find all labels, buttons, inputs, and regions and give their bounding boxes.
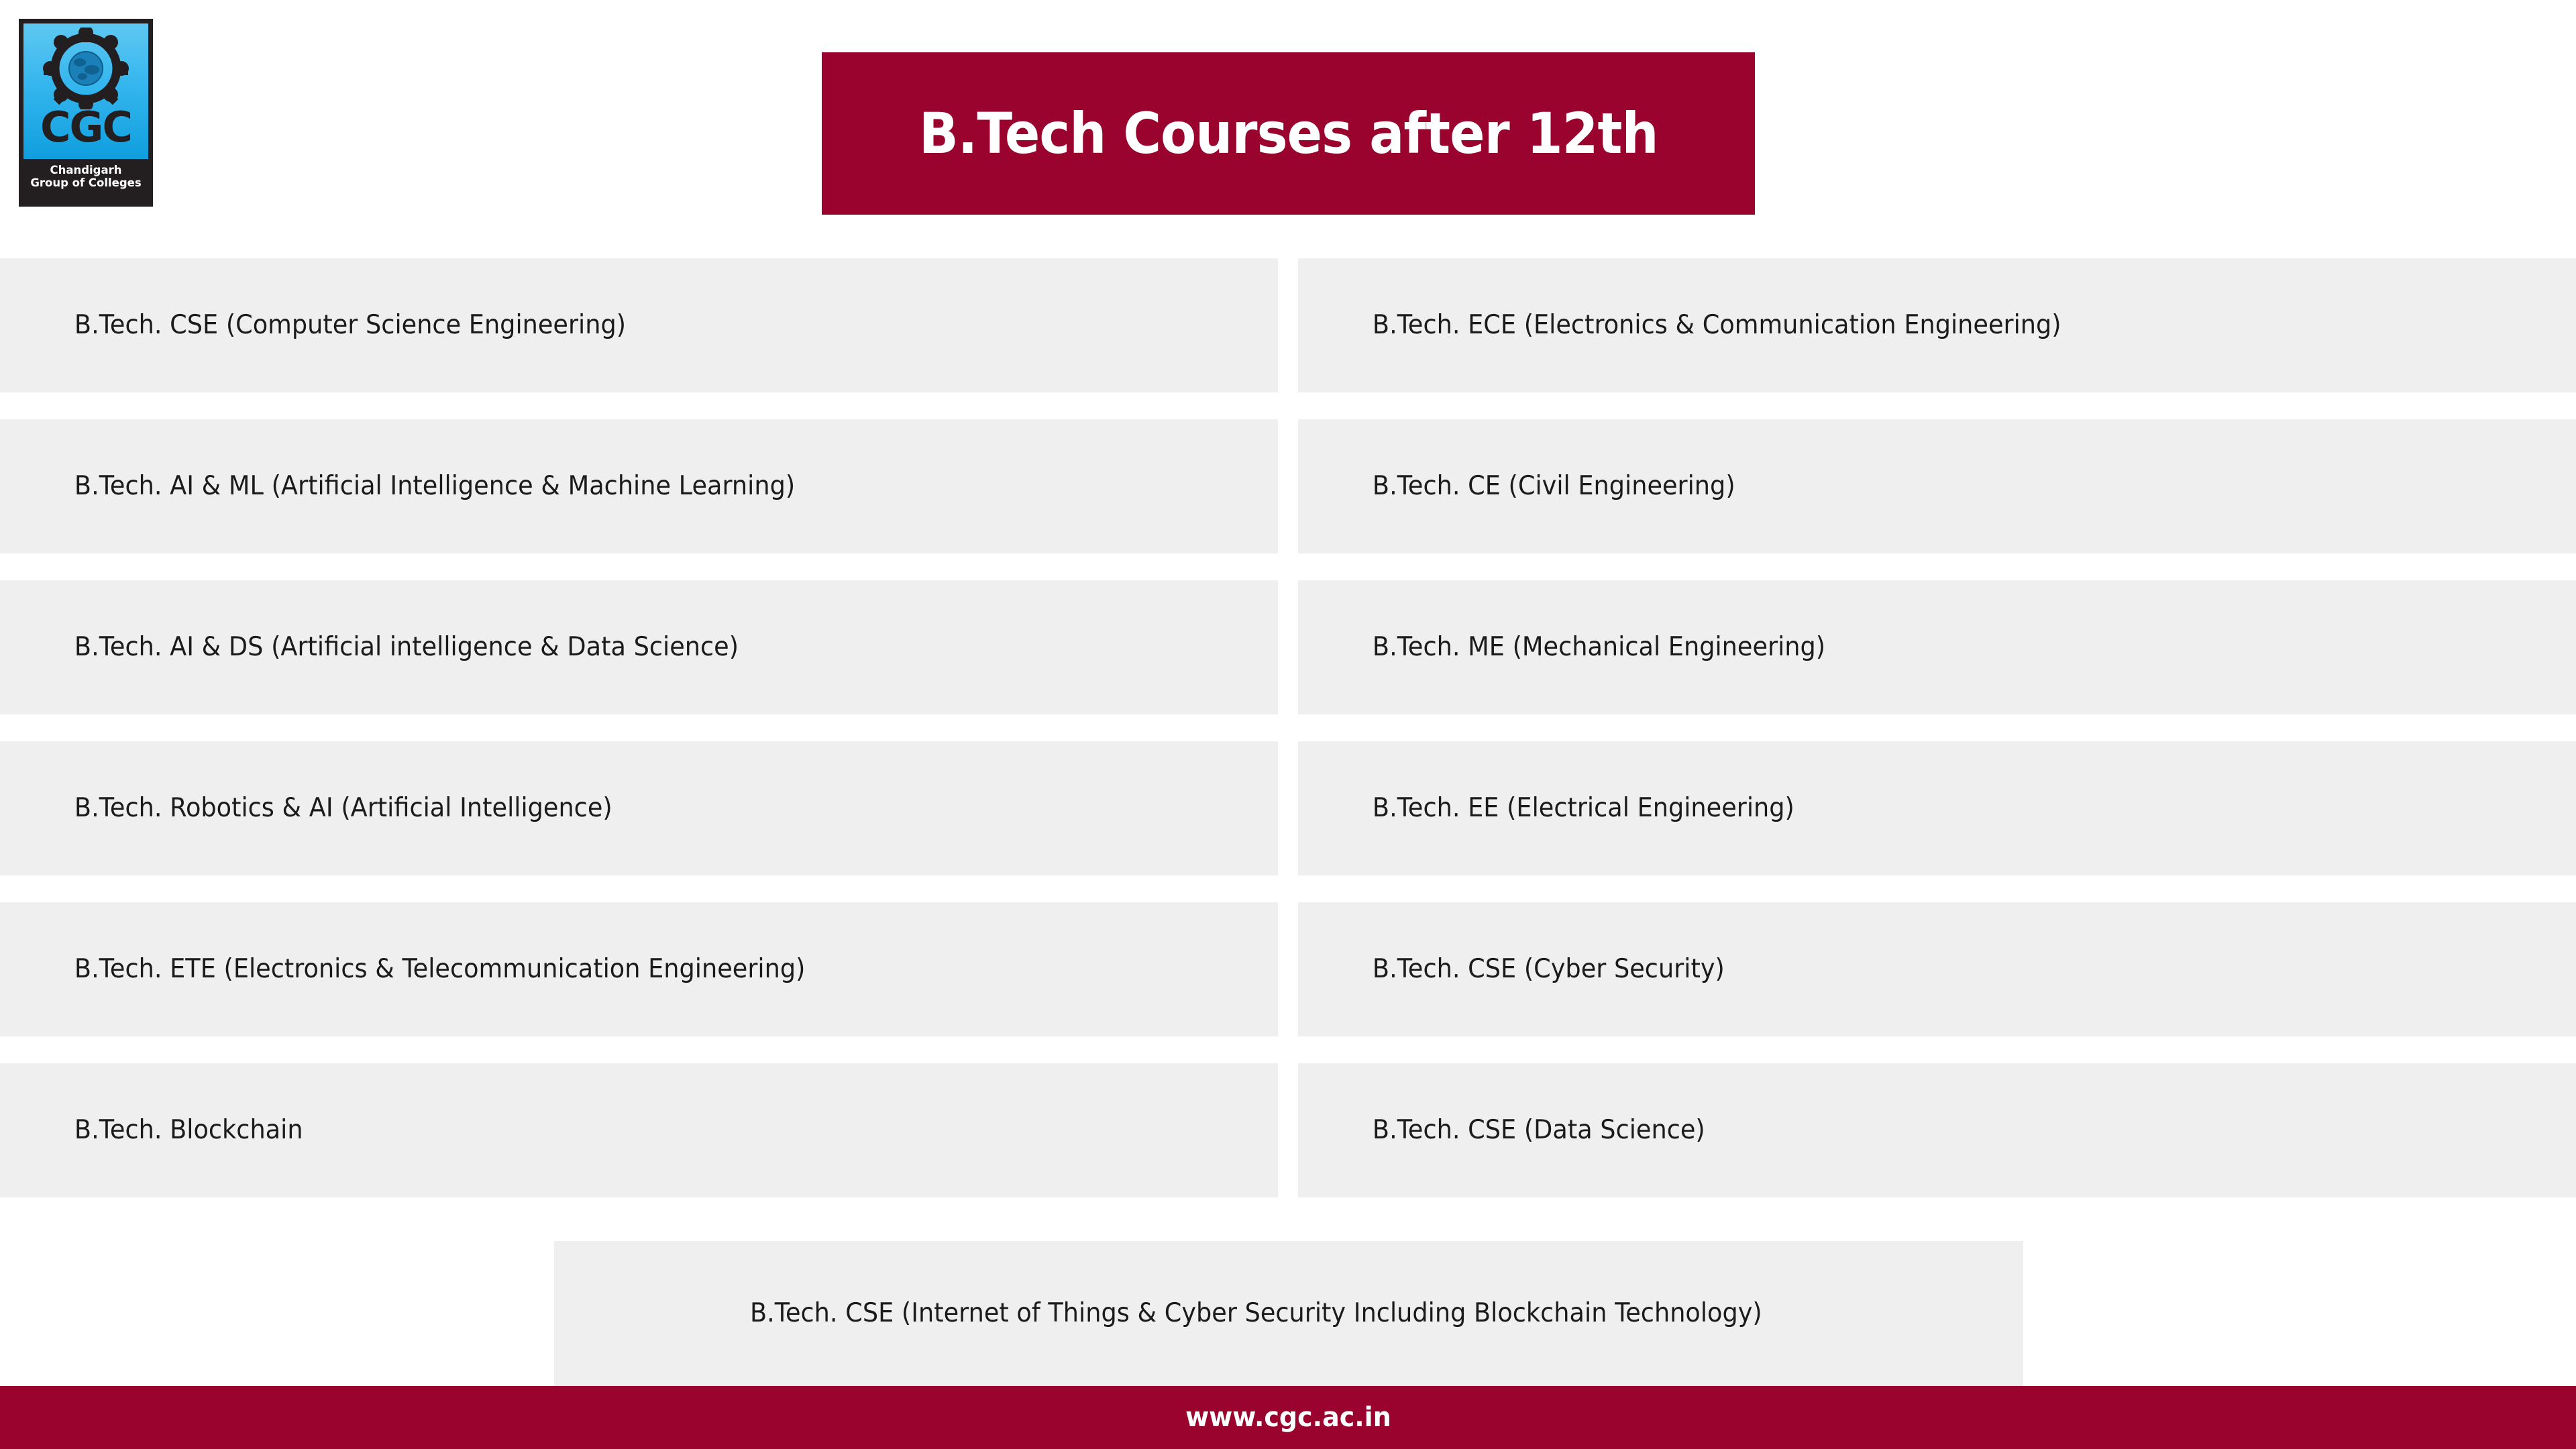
- cgc-logo: CGC Chandigarh Group of Colleges: [19, 19, 153, 207]
- course-row: B.Tech. CSE (Computer Science Engineerin…: [0, 258, 2576, 392]
- course-card[interactable]: B.Tech. ME (Mechanical Engineering): [1298, 580, 2576, 714]
- logo-subtitle-line1: Chandigarh: [50, 164, 121, 176]
- page-title: B.Tech Courses after 12th: [919, 104, 1658, 163]
- course-card[interactable]: B.Tech. EE (Electrical Engineering): [1298, 741, 2576, 875]
- course-label: B.Tech. ME (Mechanical Engineering): [1298, 632, 1825, 663]
- course-row: B.Tech. Blockchain B.Tech. CSE (Data Sci…: [0, 1063, 2576, 1197]
- course-card[interactable]: B.Tech. AI & ML (Artificial Intelligence…: [0, 419, 1278, 553]
- course-label: B.Tech. CSE (Cyber Security): [1298, 954, 1725, 985]
- course-card[interactable]: B.Tech. CE (Civil Engineering): [1298, 419, 2576, 553]
- course-label: B.Tech. Robotics & AI (Artificial Intell…: [0, 793, 612, 824]
- course-label: B.Tech. ETE (Electronics & Telecommunica…: [0, 954, 805, 985]
- course-label: B.Tech. ECE (Electronics & Communication…: [1298, 310, 2061, 341]
- course-card[interactable]: B.Tech. CSE (Data Science): [1298, 1063, 2576, 1197]
- course-card[interactable]: B.Tech. Blockchain: [0, 1063, 1278, 1197]
- course-label: B.Tech. AI & ML (Artificial Intelligence…: [0, 471, 795, 502]
- course-row: B.Tech. ETE (Electronics & Telecommunica…: [0, 902, 2576, 1036]
- course-label: B.Tech. AI & DS (Artificial intelligence…: [0, 632, 739, 663]
- title-banner: B.Tech Courses after 12th: [822, 52, 1755, 215]
- poster-root: CGC Chandigarh Group of Colleges B.Tech …: [0, 0, 2576, 1449]
- course-row: B.Tech. Robotics & AI (Artificial Intell…: [0, 741, 2576, 875]
- course-card[interactable]: B.Tech. ECE (Electronics & Communication…: [1298, 258, 2576, 392]
- course-grid: B.Tech. CSE (Computer Science Engineerin…: [0, 258, 2576, 1224]
- course-card[interactable]: B.Tech. CSE (Cyber Security): [1298, 902, 2576, 1036]
- course-label: B.Tech. CE (Civil Engineering): [1298, 471, 1735, 502]
- course-label: B.Tech. CSE (Computer Science Engineerin…: [0, 310, 626, 341]
- course-row: B.Tech. AI & ML (Artificial Intelligence…: [0, 419, 2576, 553]
- course-label: B.Tech. CSE (Data Science): [1298, 1115, 1705, 1146]
- course-card[interactable]: B.Tech. AI & DS (Artificial intelligence…: [0, 580, 1278, 714]
- gear-globe-icon: [36, 28, 136, 109]
- course-label: B.Tech. Blockchain: [0, 1115, 303, 1146]
- course-card-wide[interactable]: B.Tech. CSE (Internet of Things & Cyber …: [554, 1241, 2023, 1386]
- footer-bar: www.cgc.ac.in: [0, 1386, 2576, 1449]
- website-url[interactable]: www.cgc.ac.in: [1185, 1402, 1391, 1433]
- logo-top-panel: CGC: [23, 23, 148, 159]
- logo-subtitle-line2: Group of Colleges: [30, 176, 141, 189]
- course-label: B.Tech. CSE (Internet of Things & Cyber …: [750, 1298, 1762, 1329]
- course-row: B.Tech. AI & DS (Artificial intelligence…: [0, 580, 2576, 714]
- logo-subtitle: Chandigarh Group of Colleges: [30, 164, 141, 189]
- logo-acronym: CGC: [40, 107, 131, 148]
- course-label: B.Tech. EE (Electrical Engineering): [1298, 793, 1794, 824]
- course-card[interactable]: B.Tech. CSE (Computer Science Engineerin…: [0, 258, 1278, 392]
- course-card[interactable]: B.Tech. ETE (Electronics & Telecommunica…: [0, 902, 1278, 1036]
- course-card[interactable]: B.Tech. Robotics & AI (Artificial Intell…: [0, 741, 1278, 875]
